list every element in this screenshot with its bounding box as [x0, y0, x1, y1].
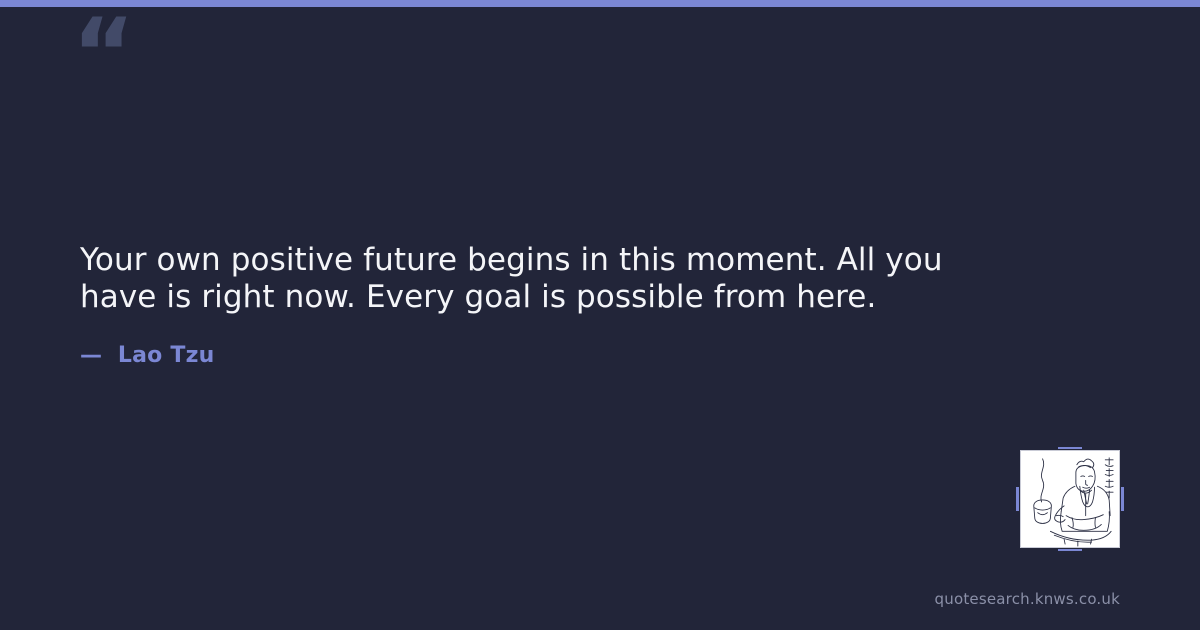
thumbnail-tick-top	[1058, 447, 1082, 449]
quote-block: Your own positive future begins in this …	[80, 242, 1000, 368]
author-portrait-frame	[1020, 450, 1120, 548]
quote-card: “ Your own positive future begins in thi…	[0, 0, 1200, 630]
source-url: quotesearch.knws.co.uk	[935, 590, 1120, 608]
quotation-mark-icon: “	[72, 6, 133, 102]
top-accent-bar	[0, 0, 1200, 7]
author-thumbnail	[1020, 450, 1120, 548]
thumbnail-tick-bottom	[1058, 549, 1082, 551]
thumbnail-tick-right	[1121, 487, 1124, 511]
author-portrait-icon	[1021, 451, 1119, 547]
thumbnail-tick-left	[1016, 487, 1019, 511]
quote-attribution: — Lao Tzu	[80, 316, 1000, 368]
quote-text: Your own positive future begins in this …	[80, 242, 1000, 316]
